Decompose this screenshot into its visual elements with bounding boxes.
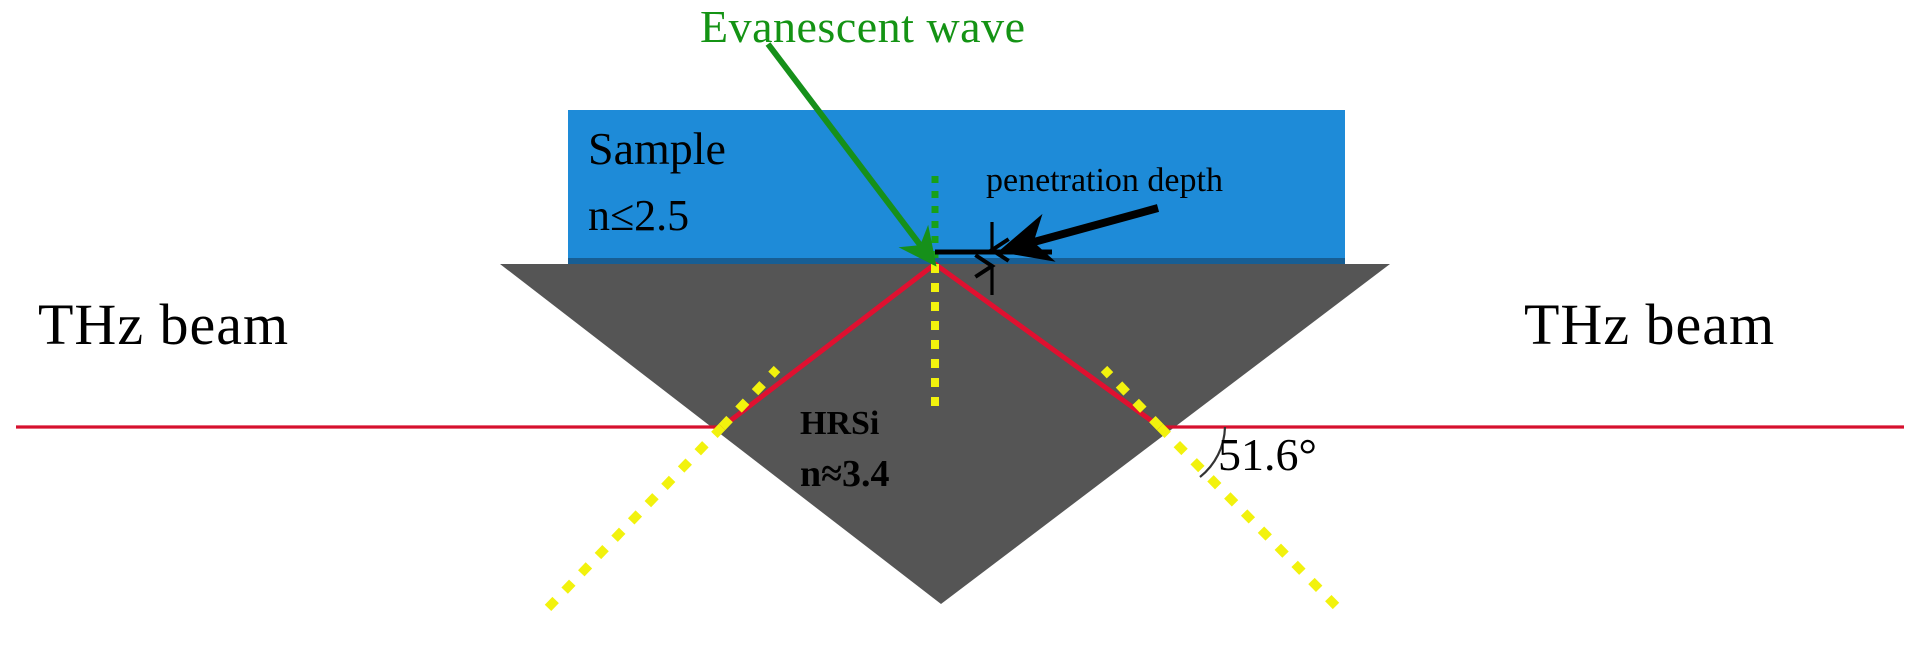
- label-sample: Sample: [588, 126, 726, 172]
- undeviated-ray-left-lower: [546, 427, 722, 610]
- label-evanescent-wave: Evanescent wave: [700, 4, 1026, 50]
- label-penetration-depth: penetration depth: [986, 164, 1223, 198]
- label-thz-beam-left: THz beam: [38, 296, 289, 354]
- label-sample-refractive-index: n≤2.5: [588, 194, 689, 238]
- diagram-canvas: THz beam THz beam Evanescent wave Sample…: [0, 0, 1920, 664]
- label-prism-material: HRSi: [800, 407, 879, 441]
- label-thz-beam-right: THz beam: [1524, 296, 1775, 354]
- label-incidence-angle: 51.6°: [1218, 432, 1317, 478]
- sample-prism-interface: [568, 258, 1345, 264]
- label-prism-refractive-index: n≈3.4: [800, 455, 890, 493]
